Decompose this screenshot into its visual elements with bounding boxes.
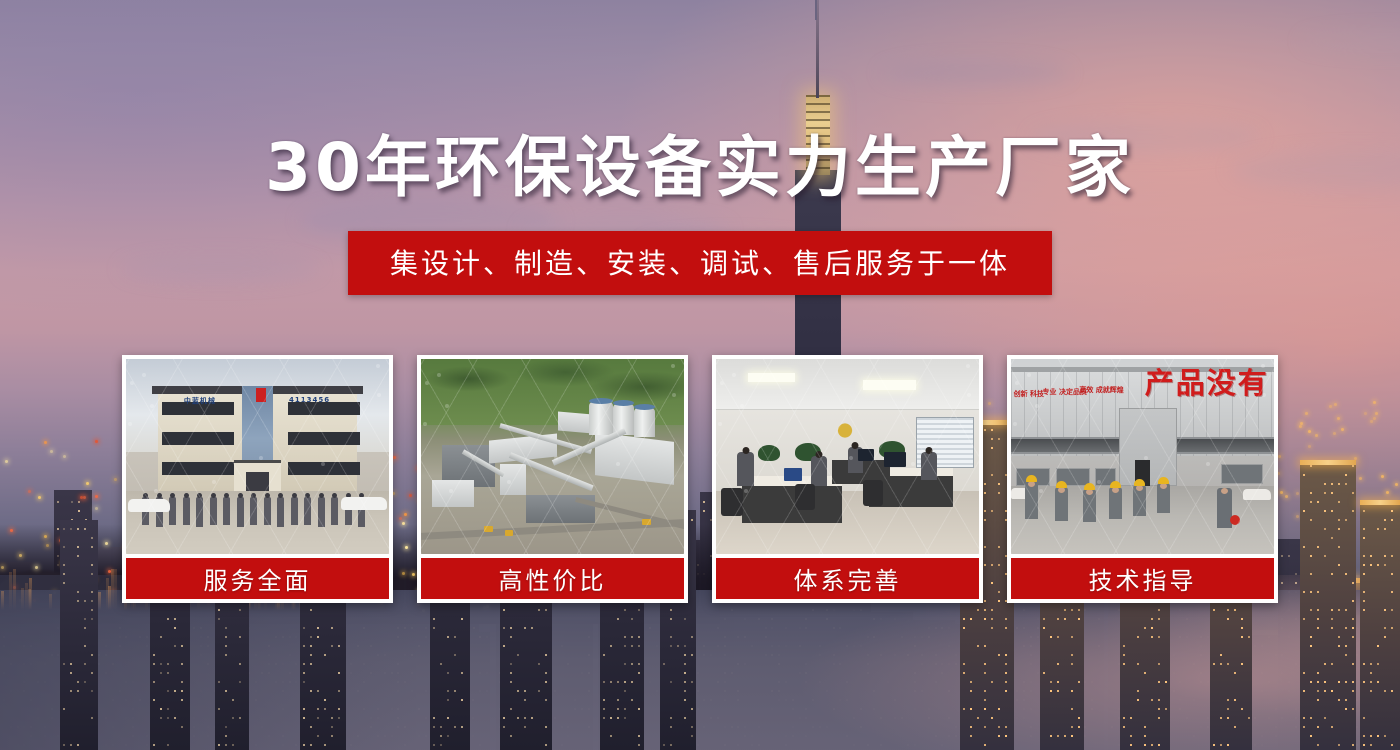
card-caption: 技术指导 xyxy=(1011,558,1274,599)
building-sign-text: 中蓝机械 xyxy=(184,396,216,406)
card-photo-aerial-plant xyxy=(421,359,684,554)
feature-card[interactable]: 中蓝机械 4113456 服务全面 xyxy=(122,355,393,603)
factory-sign-large: 产品没有 xyxy=(1145,369,1269,398)
card-caption-label: 高性价比 xyxy=(499,561,607,596)
card-caption-label: 技术指导 xyxy=(1089,561,1197,596)
page-title: 30年环保设备实力生产厂家 xyxy=(0,132,1400,203)
building-phone-text: 4113456 xyxy=(289,396,330,404)
card-caption: 体系完善 xyxy=(716,558,979,599)
card-caption-label: 体系完善 xyxy=(794,561,902,596)
feature-card-row: 中蓝机械 4113456 服务全面 xyxy=(122,355,1278,603)
tower-mast xyxy=(815,0,817,20)
hero-banner: 30年环保设备实力生产厂家 集设计、制造、安装、调试、售后服务于一体 中蓝机械 … xyxy=(0,0,1400,750)
factory-sign-small-1: 创新 科技 xyxy=(1014,390,1044,399)
card-caption: 高性价比 xyxy=(421,558,684,599)
card-caption-label: 服务全面 xyxy=(204,561,312,596)
card-photo-office-interior xyxy=(716,359,979,554)
feature-card[interactable]: 产品没有 创新 科技 专业 决定品质 高效 成就辉煌 xyxy=(1007,355,1278,603)
feature-card[interactable]: 高性价比 xyxy=(417,355,688,603)
card-photo-company-building: 中蓝机械 4113456 xyxy=(126,359,389,554)
factory-sign-small-3: 高效 成就辉煌 xyxy=(1079,386,1123,395)
subtitle-banner: 集设计、制造、安装、调试、售后服务于一体 xyxy=(348,231,1052,295)
card-caption: 服务全面 xyxy=(126,558,389,599)
feature-card[interactable]: 体系完善 xyxy=(712,355,983,603)
card-photo-workshop-training: 产品没有 创新 科技 专业 决定品质 高效 成就辉煌 xyxy=(1011,359,1274,554)
subtitle-text: 集设计、制造、安装、调试、售后服务于一体 xyxy=(390,242,1010,282)
